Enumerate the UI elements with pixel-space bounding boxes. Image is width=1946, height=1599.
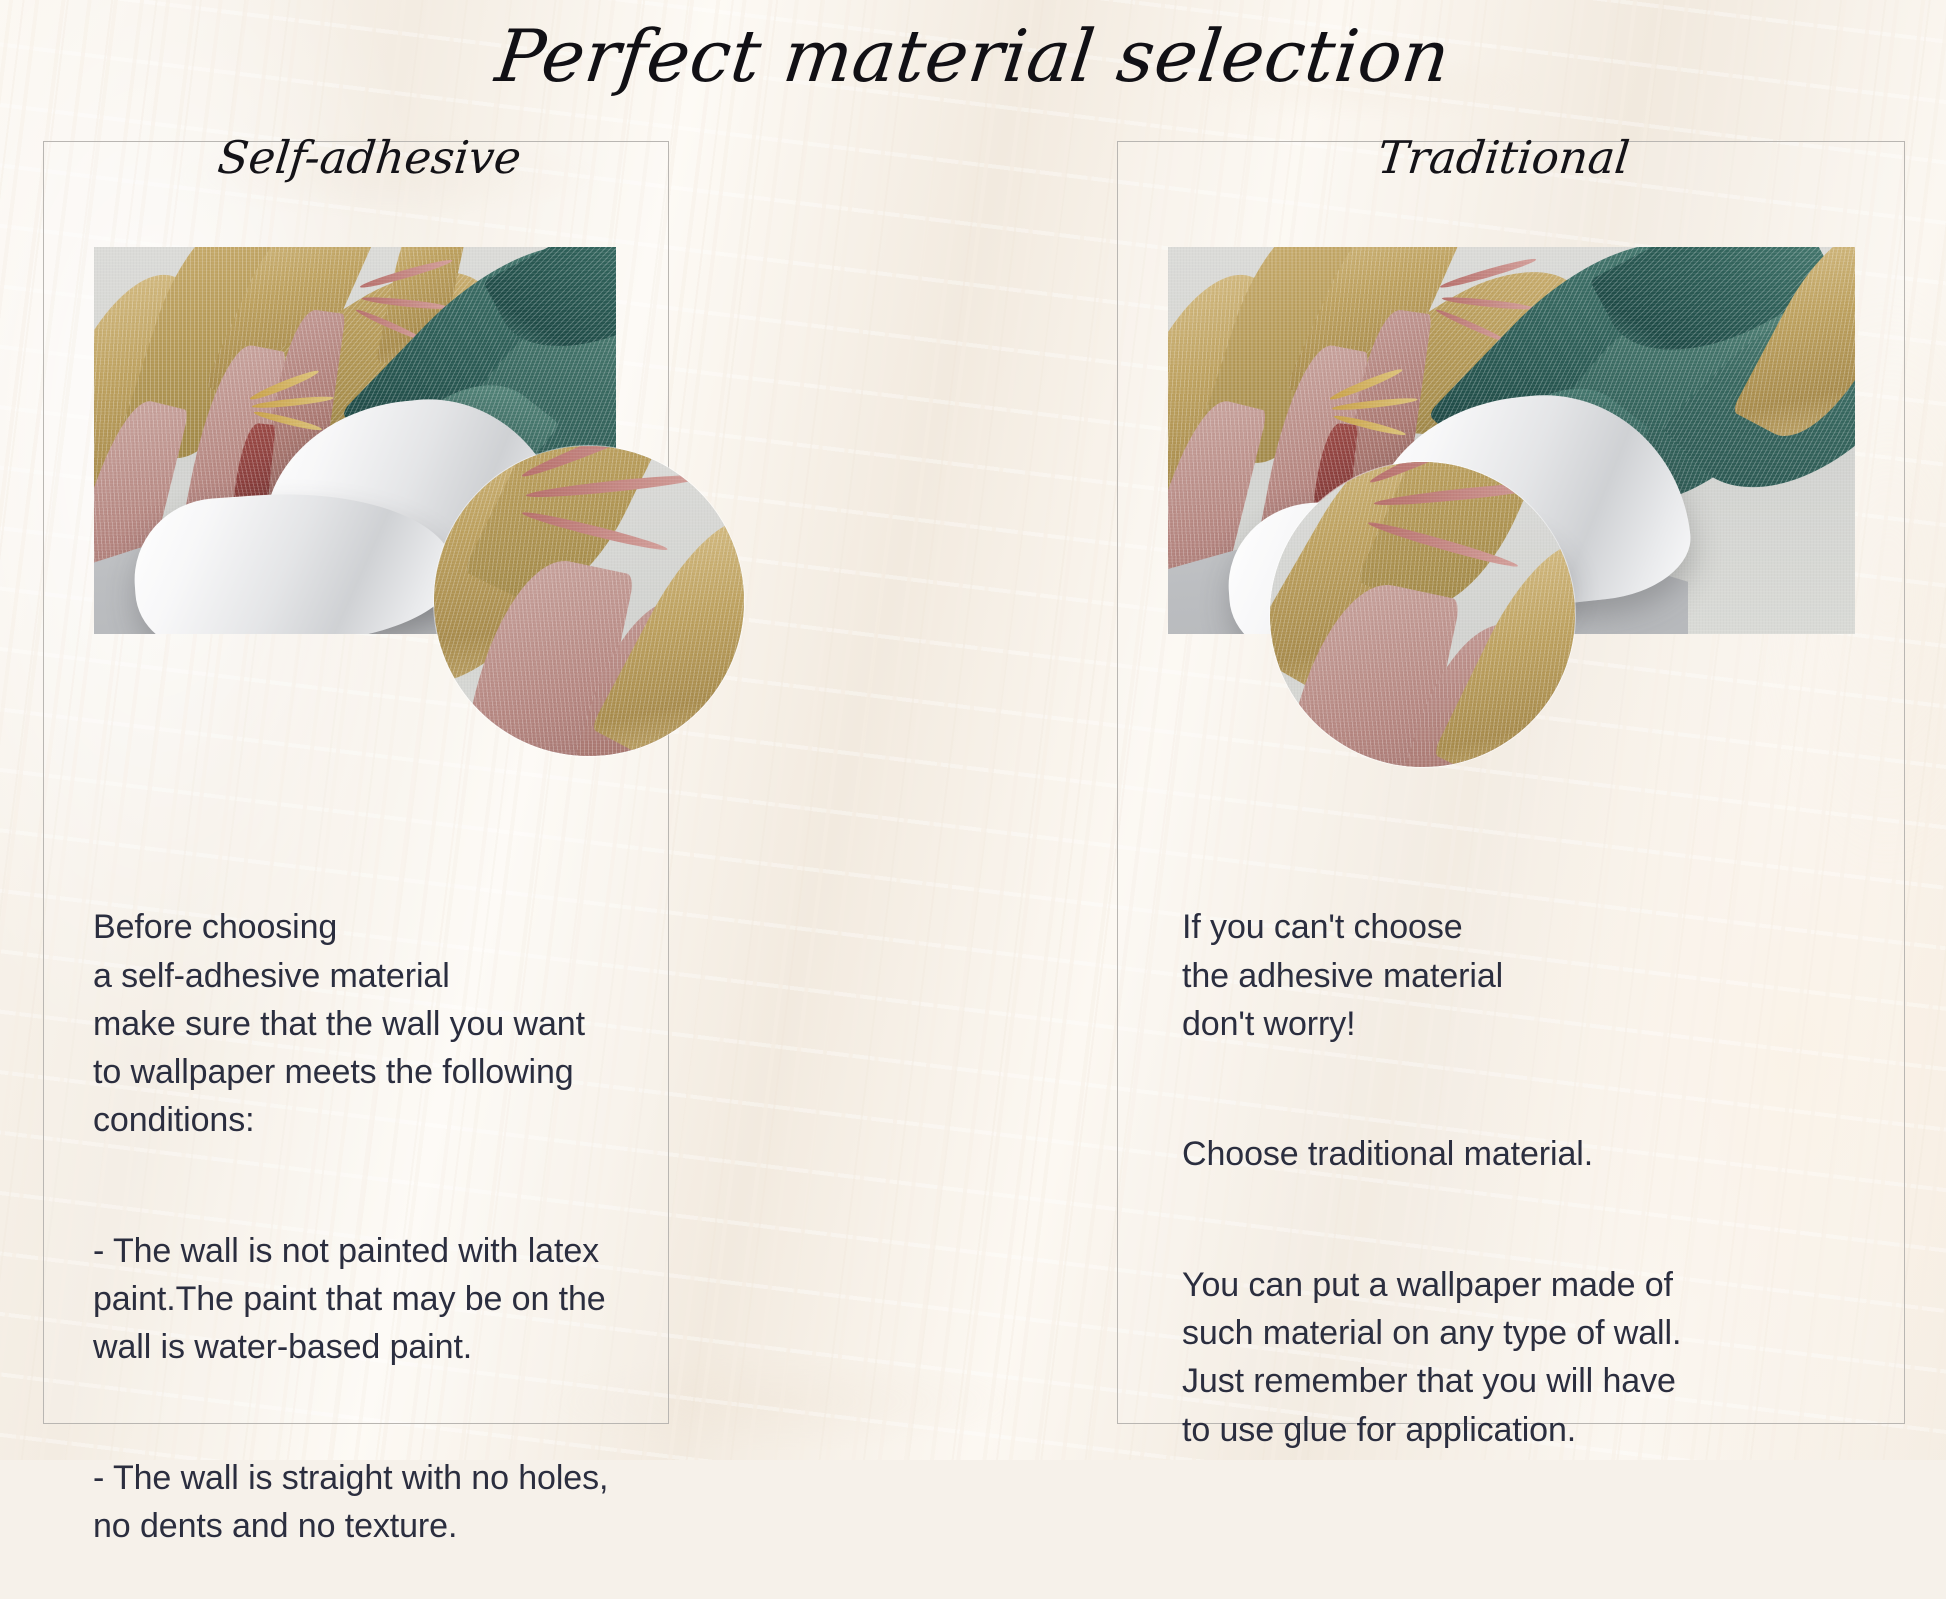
paragraph: Before choosing a self-adhesive material…	[93, 903, 633, 1144]
page-title: Perfect material selection	[0, 14, 1946, 98]
paragraph: - The wall is straight with no holes, no…	[93, 1454, 633, 1551]
paragraph: - The wall is not painted with latex pai…	[93, 1227, 633, 1372]
closeup-wallpaper	[434, 446, 744, 756]
self-adhesive-closeup-inset	[434, 446, 744, 756]
paragraph: You can put a wallpaper made of such mat…	[1182, 1261, 1822, 1454]
column-heading-traditional: Traditional	[1375, 131, 1632, 184]
paragraph: Choose traditional material.	[1182, 1130, 1822, 1178]
paragraph: If you can't choose the adhesive materia…	[1182, 903, 1822, 1048]
column-heading-self-adhesive: Self-adhesive	[215, 131, 523, 184]
self-adhesive-body-copy: Before choosing a self-adhesive material…	[93, 855, 633, 1599]
closeup-wallpaper	[1270, 462, 1575, 767]
traditional-closeup-inset	[1270, 462, 1575, 767]
traditional-body-copy: If you can't choose the adhesive materia…	[1182, 855, 1822, 1502]
